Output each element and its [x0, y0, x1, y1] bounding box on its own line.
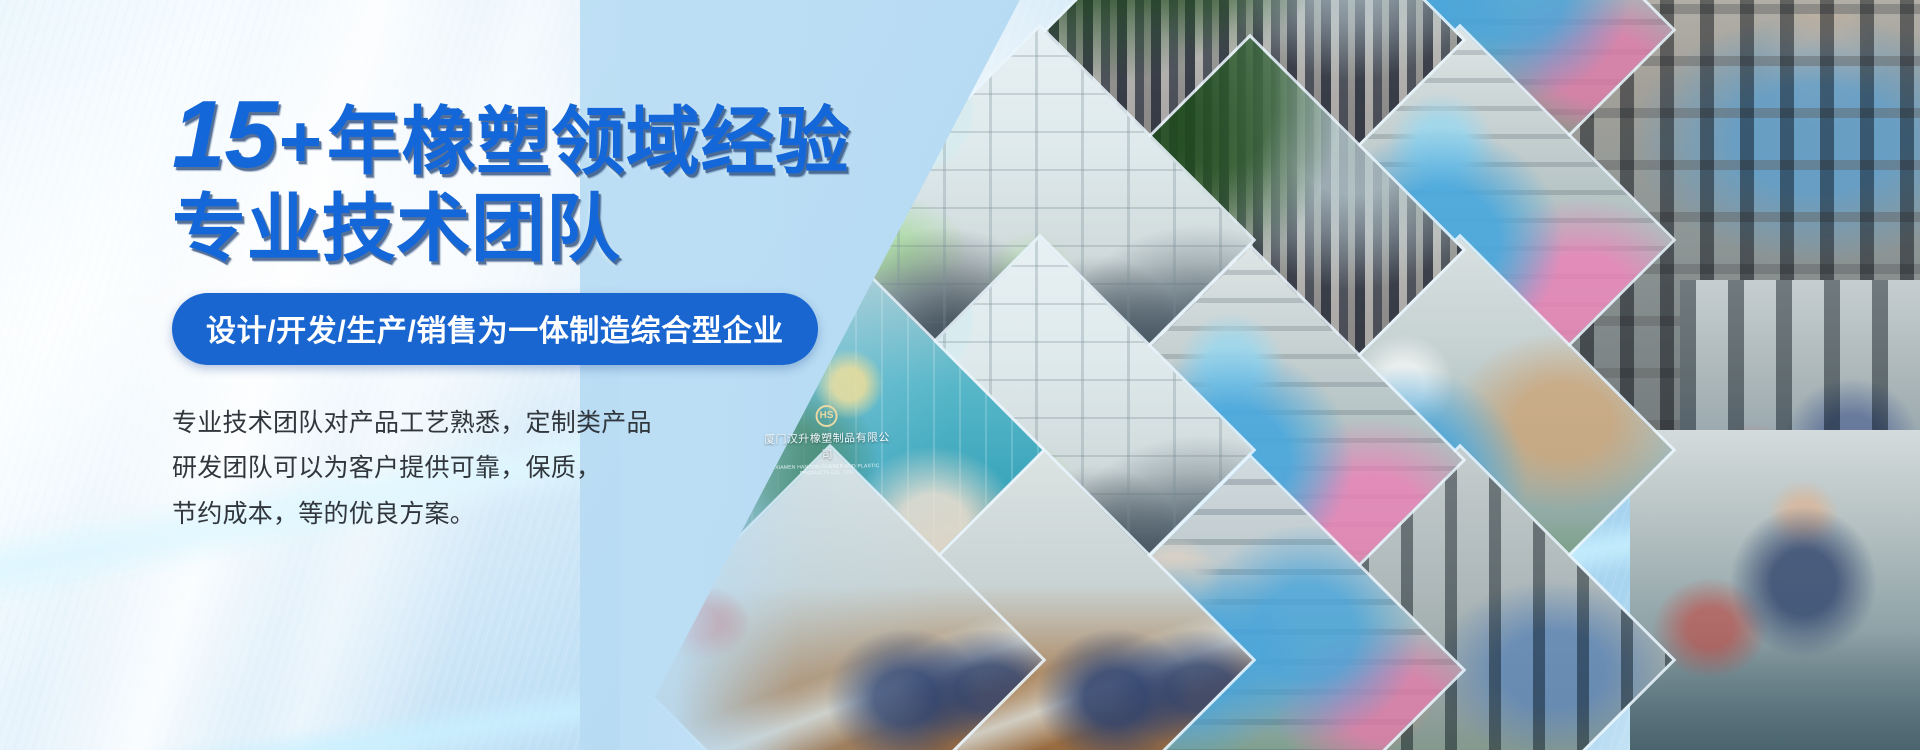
experience-years-number: 15	[172, 81, 277, 188]
headline-line-1-text: 年橡塑领域经验	[327, 100, 850, 183]
headline-line-2: 专业技术团队	[172, 191, 892, 266]
description-paragraph: 专业技术团队对产品工艺熟悉，定制类产品 研发团队可以为客户提供可靠，保质， 节约…	[172, 401, 892, 538]
headline-line-1: 15+年橡塑领域经验	[172, 92, 892, 179]
photo-worker-operating-machine	[1630, 430, 1920, 750]
paragraph-line-1: 专业技术团队对产品工艺熟悉，定制类产品	[172, 401, 892, 447]
paragraph-line-3: 节约成本，等的优良方案。	[172, 492, 892, 538]
hero-text-column: 15+年橡塑领域经验 专业技术团队 设计/开发/生产/销售为一体制造综合型企业 …	[172, 92, 892, 537]
services-badge: 设计/开发/生产/销售为一体制造综合型企业	[172, 293, 818, 365]
plus-sign: +	[279, 100, 323, 183]
paragraph-line-2: 研发团队可以为客户提供可靠，保质，	[172, 446, 892, 492]
photo-image	[1630, 430, 1920, 750]
company-hero-banner: HS 厦门汉升橡塑制品有限公司 XIAMEN HANSON RUBBER AND…	[0, 0, 1920, 750]
